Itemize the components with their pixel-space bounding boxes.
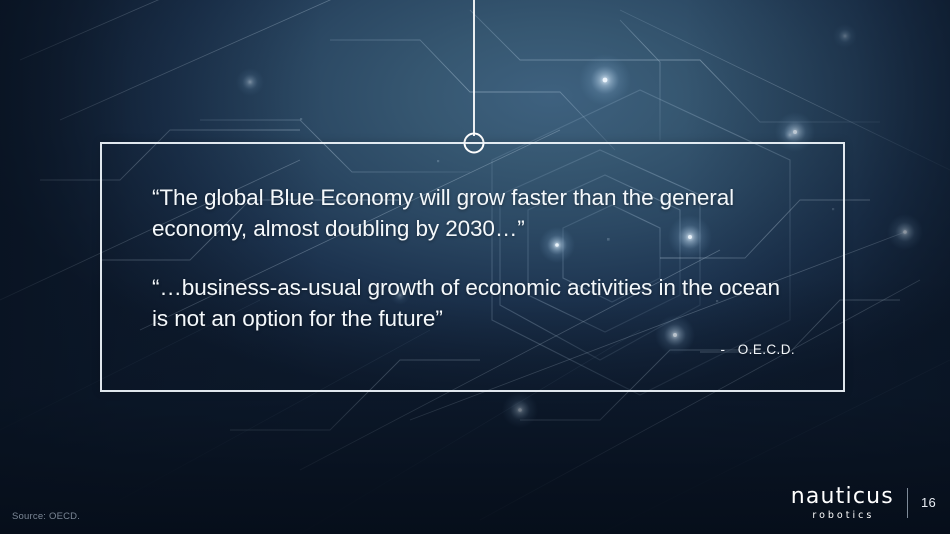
brand-divider [907,488,908,518]
quote-paragraph-1: “The global Blue Economy will grow faste… [152,182,800,244]
source-note: Source: OECD. [12,511,80,522]
logo-subword: robotics [810,511,874,521]
nauticus-logo: nauticus robotics [791,486,894,521]
page-number: 16 [921,495,936,510]
quote-paragraph-2: “…business-as-usual growth of economic a… [152,272,800,334]
brand-footer: nauticus robotics 16 [791,486,936,521]
quote-box: “The global Blue Economy will grow faste… [100,142,845,392]
quote-attribution: - O.E.C.D. [720,342,795,357]
logo-wordmark: nauticus [791,486,894,508]
slide-canvas: “The global Blue Economy will grow faste… [0,0,950,534]
quote-text-group: “The global Blue Economy will grow faste… [152,182,800,334]
